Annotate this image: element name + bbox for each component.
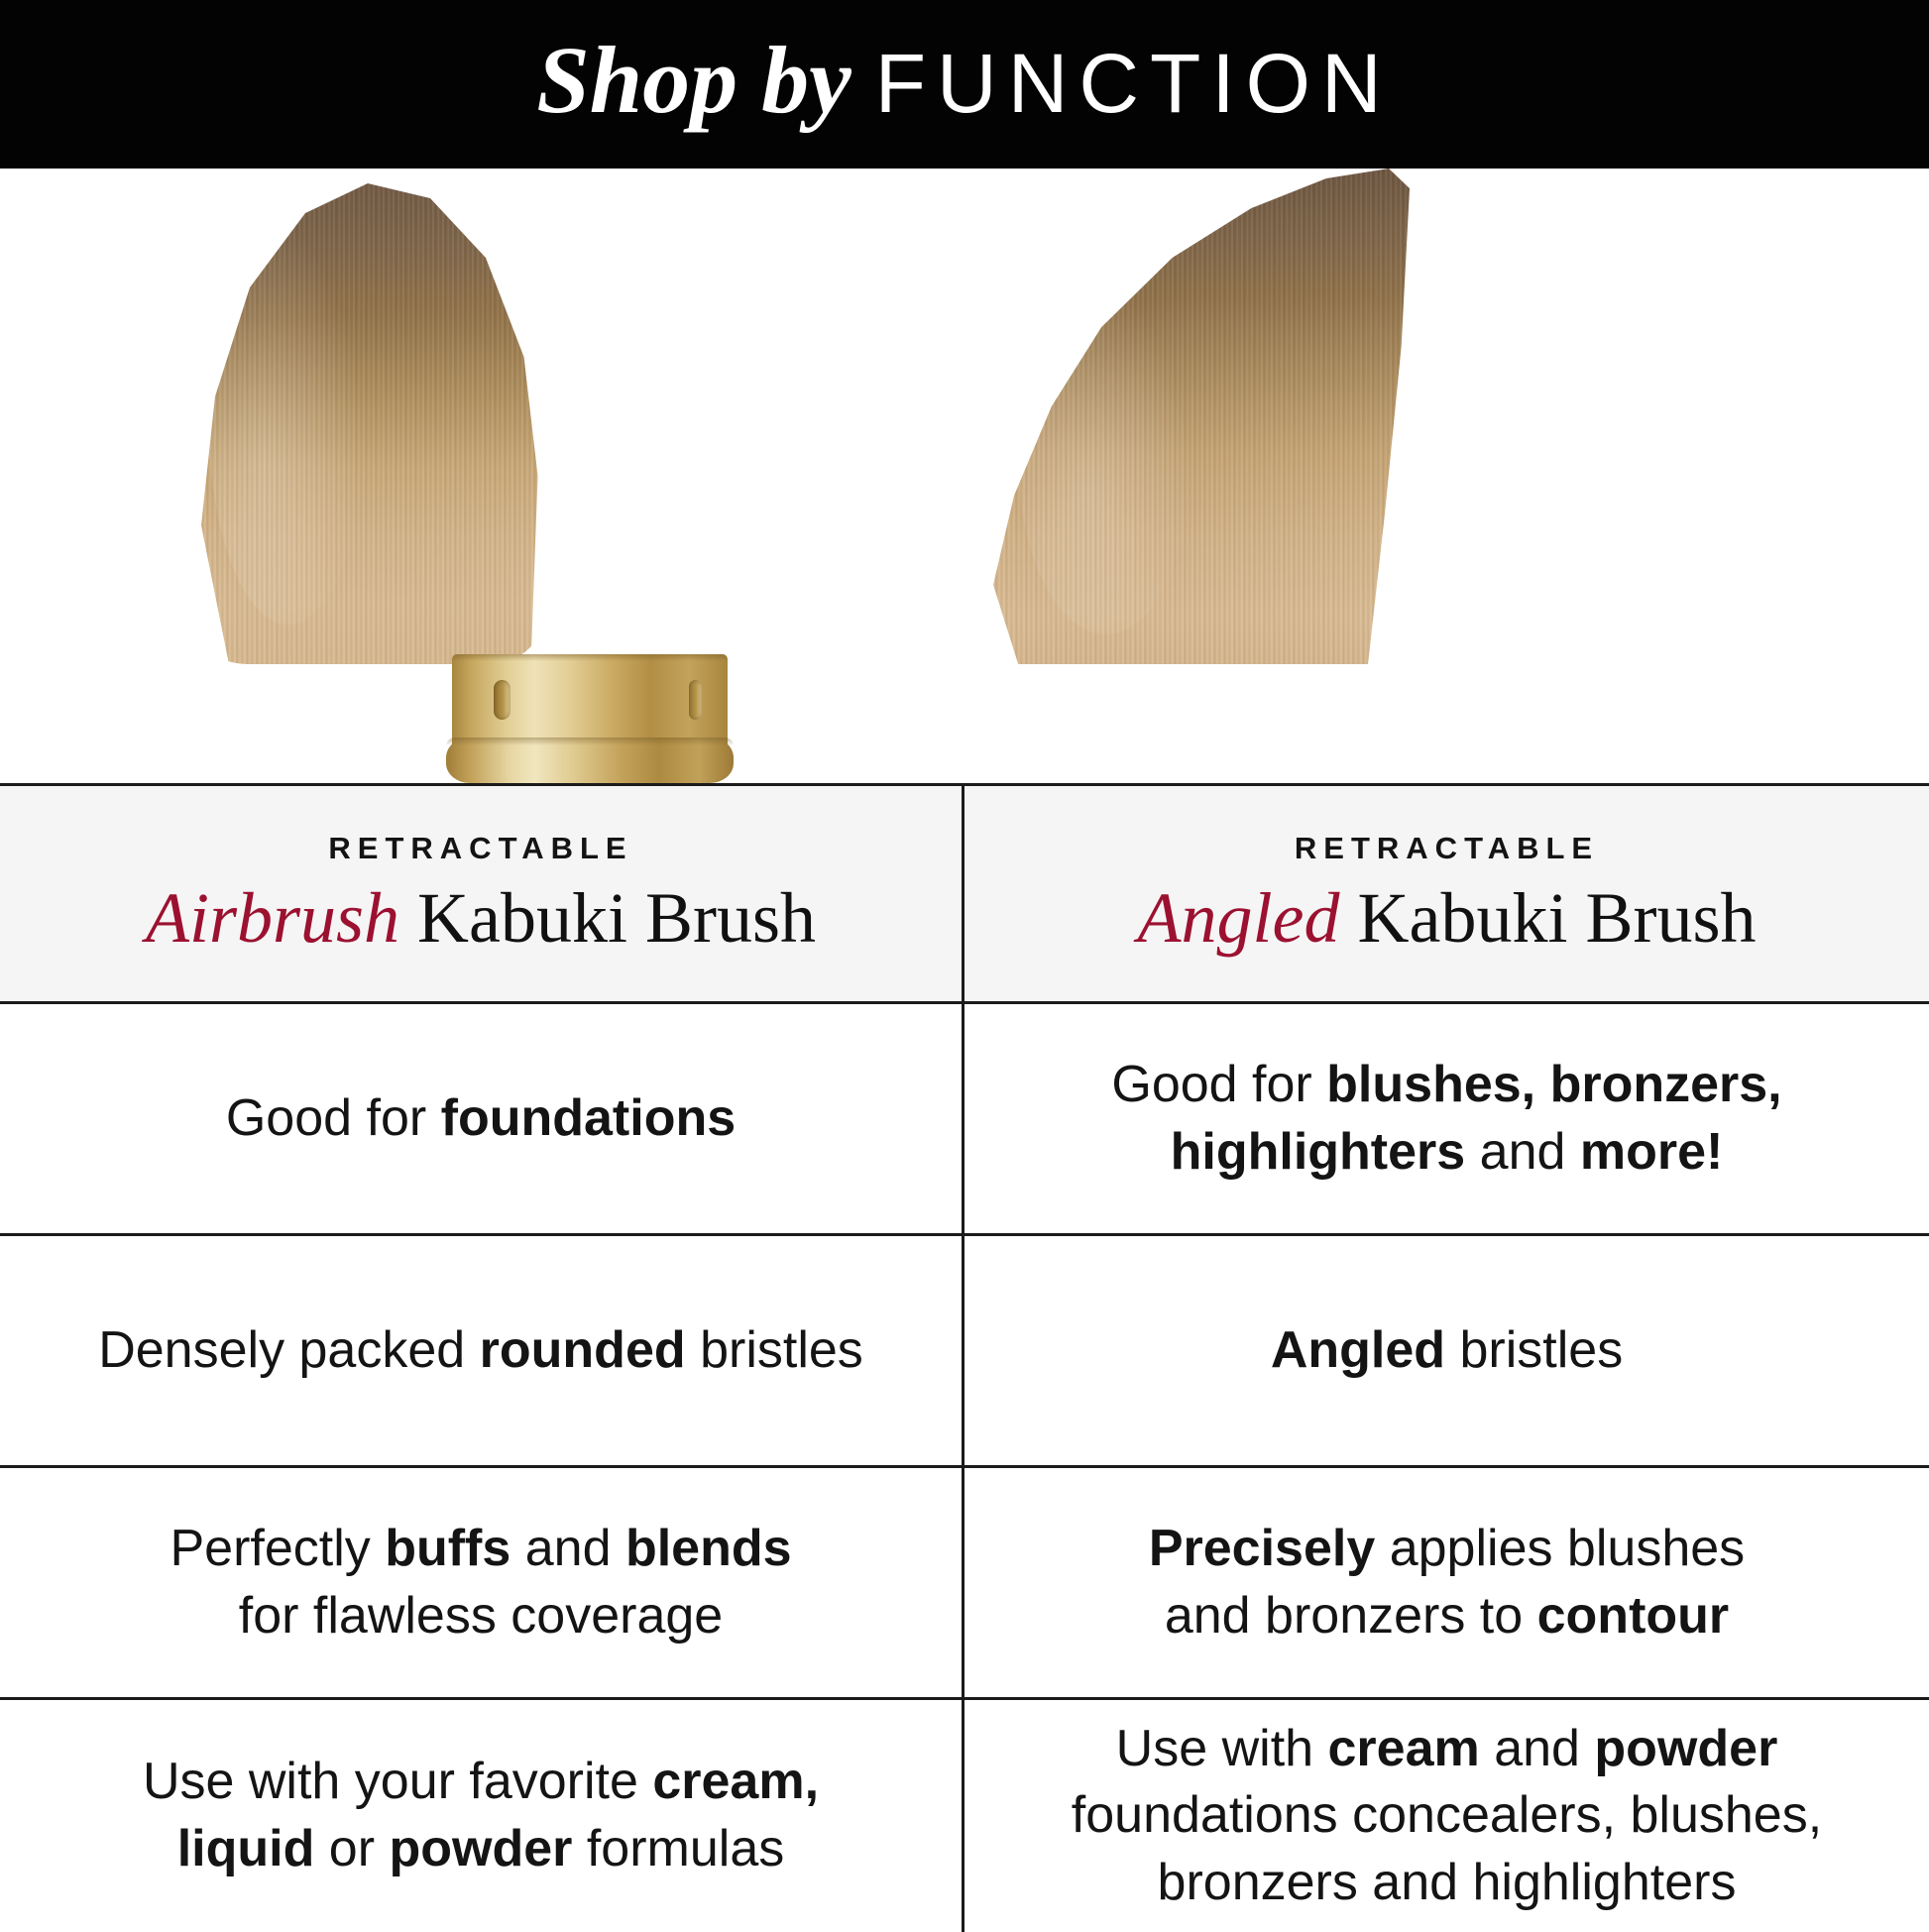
- feature-line: Angled bristles: [1271, 1317, 1623, 1385]
- feature-emphasis: foundations: [441, 1089, 737, 1147]
- feature-plain: formulas: [572, 1820, 784, 1877]
- feature-line: liquid or powder formulas: [143, 1816, 819, 1883]
- feature-emphasis: liquid: [177, 1820, 315, 1877]
- feature-emphasis: powder: [390, 1820, 573, 1877]
- comparison-cell-right: Precisely applies blushesand bronzers to…: [964, 1468, 1929, 1697]
- product-title-row: RETRACTABLE Airbrush Kabuki Brush RETRAC…: [0, 786, 1929, 1004]
- feature-emphasis: more!: [1580, 1123, 1723, 1181]
- gold-ferrule-left: [446, 654, 734, 783]
- feature-emphasis: contour: [1537, 1587, 1730, 1645]
- comparison-cell-right: Good for blushes, bronzers,highlighters …: [964, 1004, 1929, 1233]
- feature-plain: Perfectly: [170, 1520, 385, 1577]
- feature-emphasis: blushes, bronzers,: [1326, 1056, 1781, 1113]
- feature-rows: Good for foundationsGood for blushes, br…: [0, 1004, 1929, 1932]
- comparison-row: Good for foundationsGood for blushes, br…: [0, 1004, 1929, 1236]
- feature-plain: and: [1480, 1720, 1595, 1777]
- feature-plain: foundations concealers, blushes,: [1072, 1786, 1822, 1844]
- comparison-cell-left: Use with your favorite cream,liquid or p…: [0, 1700, 964, 1932]
- feature-line: Good for blushes, bronzers,: [1111, 1052, 1781, 1119]
- product-name-rest: Kabuki Brush: [1339, 878, 1756, 958]
- comparison-cell-right: Use with cream and powderfoundations con…: [964, 1700, 1929, 1932]
- feature-line: bronzers and highlighters: [1072, 1850, 1822, 1917]
- feature-text: Angled bristles: [1271, 1317, 1623, 1385]
- ferrule-body: [452, 654, 728, 749]
- feature-line: highlighters and more!: [1111, 1119, 1781, 1187]
- product-title-cell-right: RETRACTABLE Angled Kabuki Brush: [964, 786, 1929, 1001]
- feature-text: Good for foundations: [226, 1085, 736, 1153]
- feature-plain: bronzers and highlighters: [1158, 1854, 1737, 1911]
- product-eyebrow: RETRACTABLE: [1295, 831, 1599, 866]
- feature-line: Good for foundations: [226, 1085, 736, 1153]
- feature-plain: Densely packed: [98, 1321, 479, 1379]
- feature-plain: or: [314, 1820, 389, 1877]
- feature-plain: and: [1465, 1123, 1580, 1181]
- feature-line: Precisely applies blushes: [1149, 1516, 1745, 1583]
- feature-line: Use with cream and powder: [1072, 1716, 1822, 1783]
- page-title-caps: FUNCTION: [875, 37, 1393, 130]
- infographic-page: Shop byFUNCTION: [0, 0, 1929, 1929]
- angled-bristles-icon: [993, 169, 1410, 664]
- comparison-row: Use with your favorite cream,liquid or p…: [0, 1700, 1929, 1932]
- product-name: Airbrush Kabuki Brush: [146, 880, 816, 956]
- header-banner: Shop byFUNCTION: [0, 0, 1929, 169]
- feature-plain: applies blushes: [1375, 1520, 1745, 1577]
- feature-line: and bronzers to contour: [1149, 1583, 1745, 1650]
- feature-emphasis: highlighters: [1171, 1123, 1466, 1181]
- feature-plain: bristles: [686, 1321, 863, 1379]
- feature-line: Densely packed rounded bristles: [98, 1317, 863, 1385]
- comparison-row: Perfectly buffs and blendsfor flawless c…: [0, 1468, 1929, 1700]
- product-images-area: [0, 169, 1929, 783]
- comparison-cell-left: Perfectly buffs and blendsfor flawless c…: [0, 1468, 964, 1697]
- comparison-row: Densely packed rounded bristlesAngled br…: [0, 1236, 1929, 1468]
- rounded-bristles-icon: [194, 169, 541, 664]
- feature-emphasis: cream: [1328, 1720, 1480, 1777]
- comparison-cell-left: Good for foundations: [0, 1004, 964, 1233]
- product-name-accent: Airbrush: [146, 878, 399, 958]
- comparison-cell-right: Angled bristles: [964, 1236, 1929, 1465]
- feature-emphasis: cream,: [652, 1753, 819, 1810]
- feature-emphasis: rounded: [480, 1321, 686, 1379]
- feature-text: Perfectly buffs and blendsfor flawless c…: [170, 1516, 791, 1649]
- comparison-table: RETRACTABLE Airbrush Kabuki Brush RETRAC…: [0, 783, 1929, 1929]
- product-name-accent: Angled: [1138, 878, 1340, 958]
- feature-line: for flawless coverage: [170, 1583, 791, 1650]
- feature-emphasis: Angled: [1271, 1321, 1445, 1379]
- product-title-cell-left: RETRACTABLE Airbrush Kabuki Brush: [0, 786, 964, 1001]
- feature-plain: and: [511, 1520, 625, 1577]
- feature-text: Precisely applies blushesand bronzers to…: [1149, 1516, 1745, 1649]
- feature-line: foundations concealers, blushes,: [1072, 1782, 1822, 1850]
- ferrule-side-notch-icon: [689, 680, 702, 720]
- feature-line: Perfectly buffs and blends: [170, 1516, 791, 1583]
- feature-plain: Good for: [1111, 1056, 1326, 1113]
- ferrule-notch-icon: [494, 680, 511, 720]
- feature-line: Use with your favorite cream,: [143, 1749, 819, 1816]
- feature-plain: Good for: [226, 1089, 441, 1147]
- feature-text: Use with cream and powderfoundations con…: [1072, 1716, 1822, 1917]
- feature-text: Densely packed rounded bristles: [98, 1317, 863, 1385]
- feature-emphasis: Precisely: [1149, 1520, 1375, 1577]
- page-title-script: Shop by: [536, 27, 851, 133]
- feature-plain: bristles: [1445, 1321, 1623, 1379]
- product-image-angled-kabuki[interactable]: [993, 169, 1410, 783]
- comparison-cell-left: Densely packed rounded bristles: [0, 1236, 964, 1465]
- ferrule-base-ring: [446, 738, 734, 783]
- feature-plain: and bronzers to: [1165, 1587, 1537, 1645]
- feature-emphasis: powder: [1594, 1720, 1777, 1777]
- feature-emphasis: blends: [625, 1520, 792, 1577]
- product-name: Angled Kabuki Brush: [1138, 880, 1757, 956]
- product-eyebrow: RETRACTABLE: [328, 831, 632, 866]
- feature-plain: Use with your favorite: [143, 1753, 652, 1810]
- feature-emphasis: buffs: [385, 1520, 511, 1577]
- product-image-airbrush-kabuki[interactable]: [194, 169, 541, 783]
- page-title: Shop byFUNCTION: [536, 33, 1392, 128]
- product-name-rest: Kabuki Brush: [399, 878, 816, 958]
- feature-text: Good for blushes, bronzers,highlighters …: [1111, 1052, 1781, 1186]
- feature-plain: Use with: [1116, 1720, 1328, 1777]
- feature-plain: for flawless coverage: [239, 1587, 723, 1645]
- feature-text: Use with your favorite cream,liquid or p…: [143, 1749, 819, 1882]
